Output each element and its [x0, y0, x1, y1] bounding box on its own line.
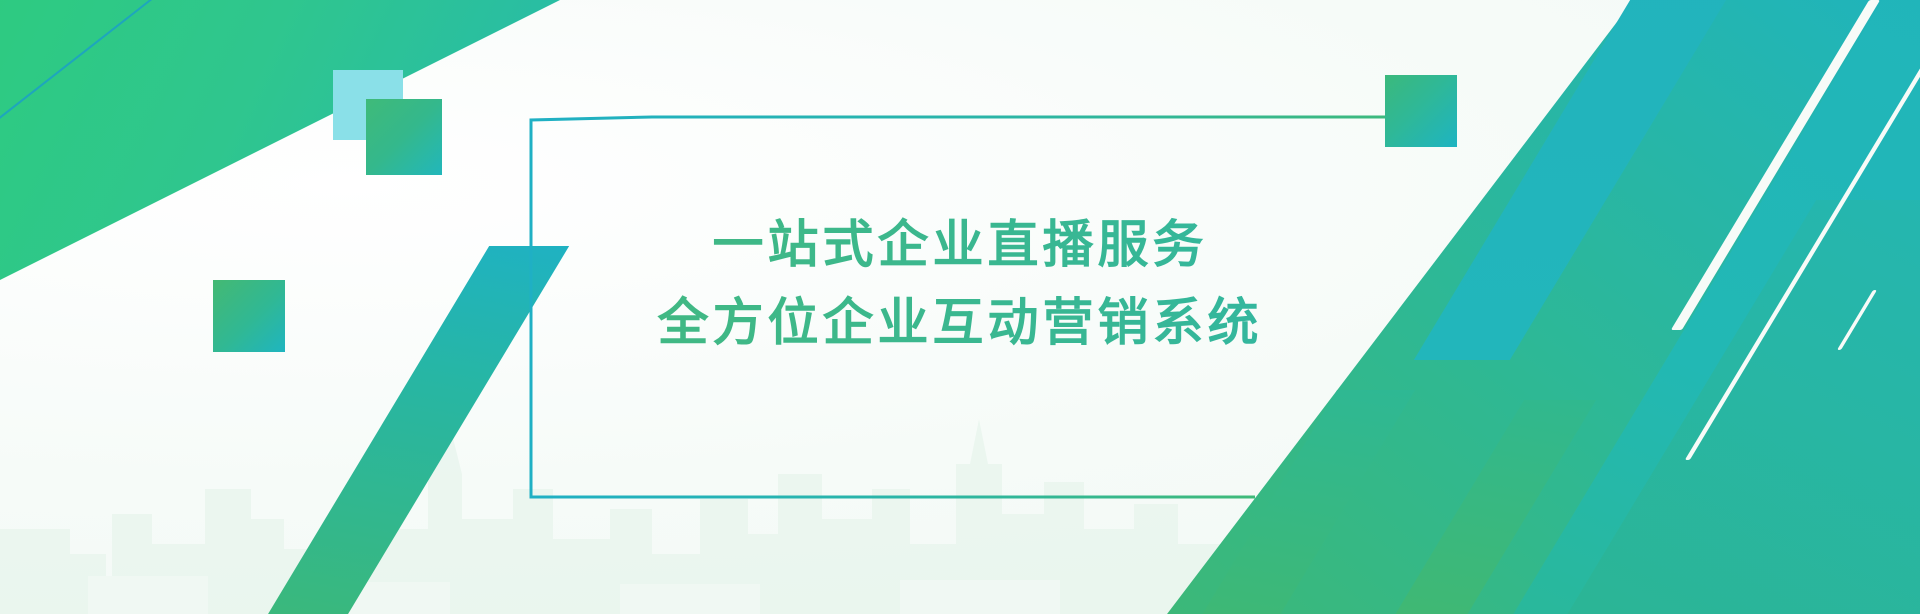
headline-block: 一站式企业直播服务 全方位企业互动营销系统 [0, 206, 1920, 362]
headline-line-2: 全方位企业互动营销系统 [0, 284, 1920, 362]
headline-line-1: 一站式企业直播服务 [0, 206, 1920, 284]
promo-banner: 一站式企业直播服务 全方位企业互动营销系统 [0, 0, 1920, 614]
square-green-small [366, 99, 442, 175]
square-green-top-right [1385, 75, 1457, 147]
